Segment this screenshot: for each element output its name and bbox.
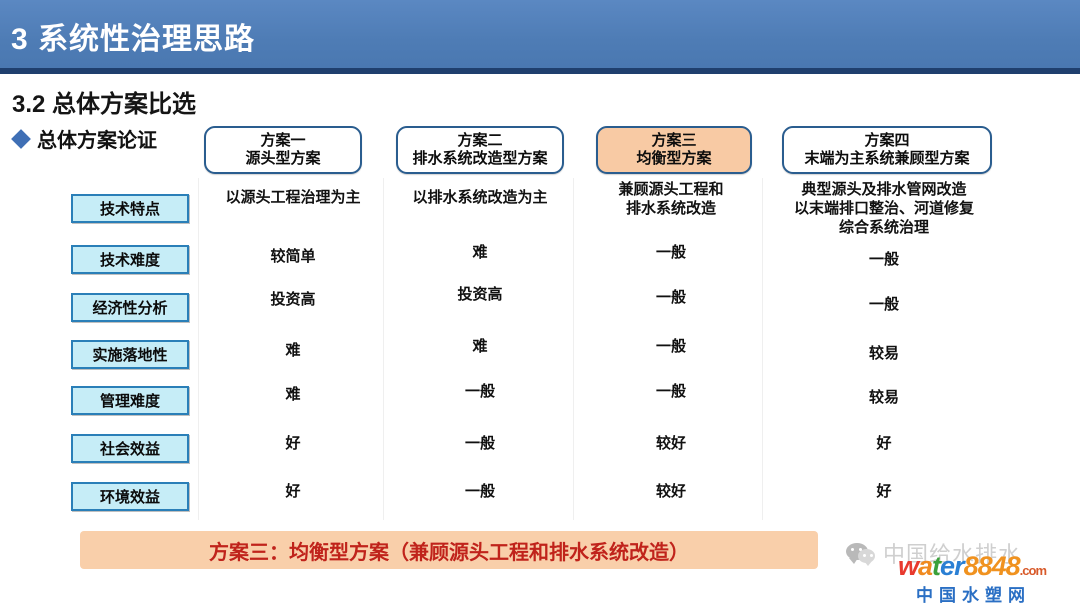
column-separator [573,178,574,520]
cell-r5-c2: 较好 [585,435,757,454]
column-separator [198,178,199,520]
brand-letter-t: t [932,551,940,581]
cell-r1-c1: 难 [390,244,570,263]
cell-r1-c3: 一般 [768,251,1000,270]
cell-r6-c2: 较好 [585,483,757,502]
cell-r4-c1: 一般 [390,383,570,402]
cell-r0-c3: 典型源头及排水管网改造以末端排口整治、河道修复综合系统治理 [768,181,1000,237]
cell-r6-c1: 一般 [390,483,570,502]
row-label-4[interactable]: 管理难度 [71,386,189,415]
cell-r2-c3: 一般 [768,296,1000,315]
column-header-line1: 方案四 [864,132,909,150]
bullet-row: 总体方案论证 [14,124,157,153]
cell-r3-c3: 较易 [768,345,1000,364]
cell-r4-c0: 难 [204,386,382,405]
watermark-site-cn: 中国水塑网 [916,581,1031,606]
column-header-scheme-4[interactable]: 方案四 末端为主系统兼顾型方案 [782,126,992,174]
brand-letter-a: a [918,551,932,581]
cell-r5-c1: 一般 [390,435,570,454]
cell-r1-c0: 较简单 [204,248,382,267]
diamond-bullet-icon [11,129,31,149]
cell-r6-c0: 好 [204,483,382,502]
column-header-scheme-3[interactable]: 方案三 均衡型方案 [596,126,752,174]
cell-r6-c3: 好 [768,483,1000,502]
header-rule-divider [0,68,1080,74]
cell-r4-c3: 较易 [768,389,1000,408]
cell-r2-c2: 一般 [585,289,757,308]
column-header-scheme-2[interactable]: 方案二 排水系统改造型方案 [396,126,564,174]
cell-r1-c2: 一般 [585,244,757,263]
column-header-line2: 末端为主系统兼顾型方案 [804,150,969,168]
cell-r3-c0: 难 [204,342,382,361]
column-header-scheme-1[interactable]: 方案一 源头型方案 [204,126,362,174]
column-header-line2: 排水系统改造型方案 [412,150,547,168]
watermark: 中国给水排水 water8848.com 中国水塑网 [846,531,1080,608]
conclusion-banner: 方案三：均衡型方案（兼顾源头工程和排水系统改造） [80,531,818,569]
bullet-label: 总体方案论证 [37,124,157,153]
brand-letter-r: r [954,551,964,581]
cell-r0-c1: 以排水系统改造为主 [390,189,570,208]
brand-number: 8848 [964,551,1020,581]
brand-letter-e: e [940,551,954,581]
column-separator [762,178,763,520]
cell-r0-c0: 以源头工程治理为主 [204,189,382,208]
row-label-0[interactable]: 技术特点 [71,194,189,223]
row-label-3[interactable]: 实施落地性 [71,340,189,369]
wechat-icon [846,543,876,564]
cell-r2-c0: 投资高 [204,291,382,310]
cell-r4-c2: 一般 [585,383,757,402]
cell-r5-c0: 好 [204,435,382,454]
column-header-line2: 源头型方案 [245,150,320,168]
cell-r3-c2: 一般 [585,338,757,357]
cell-r5-c3: 好 [768,435,1000,454]
section-subtitle: 3.2 总体方案比选 [12,84,196,119]
column-separator [383,178,384,520]
column-header-line1: 方案一 [260,132,305,150]
brand-letter-w: w [898,551,918,581]
watermark-brand: water8848.com [898,553,1046,580]
slide-canvas: 3 系统性治理思路 3.2 总体方案比选 总体方案论证 方案一 源头型方案 方案… [0,0,1080,608]
column-header-line1: 方案二 [457,132,502,150]
page-title: 3 系统性治理思路 [11,14,255,58]
cell-r3-c1: 难 [390,338,570,357]
column-header-line2: 均衡型方案 [636,150,711,168]
cell-r0-c2: 兼顾源头工程和排水系统改造 [585,181,757,219]
row-label-1[interactable]: 技术难度 [71,245,189,274]
row-label-5[interactable]: 社会效益 [71,434,189,463]
cell-r2-c1: 投资高 [390,286,570,305]
row-label-6[interactable]: 环境效益 [71,482,189,511]
row-label-2[interactable]: 经济性分析 [71,293,189,322]
column-header-line1: 方案三 [651,132,696,150]
brand-domain: .com [1020,563,1046,578]
